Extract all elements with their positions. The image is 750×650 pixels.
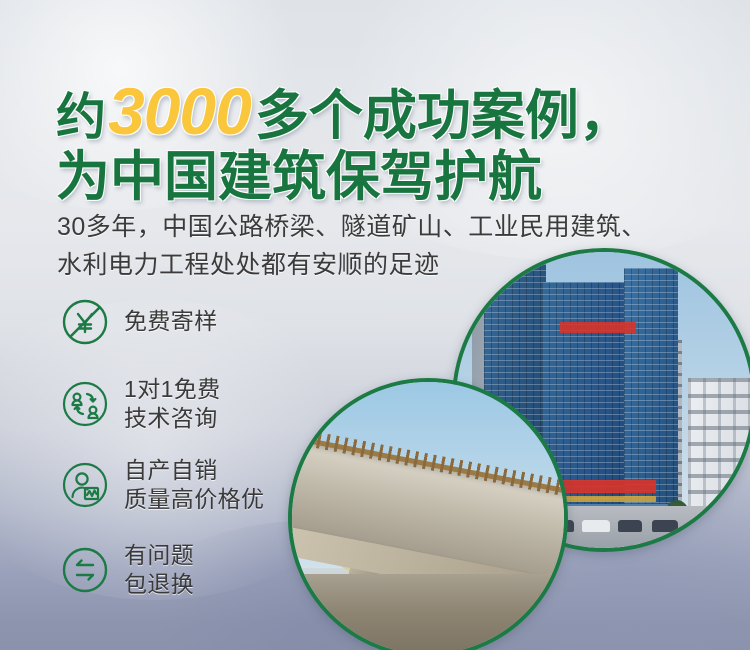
feature-label-line: 1对1免费 xyxy=(124,375,221,404)
feature-item-return[interactable]: 有问题 包退换 xyxy=(60,541,360,600)
free-sample-icon xyxy=(60,297,110,347)
feature-label: 免费寄样 xyxy=(124,307,218,336)
headline-line-2: 为中国建筑保驾护航 xyxy=(56,150,716,204)
feature-label: 1对1免费 技术咨询 xyxy=(124,375,221,434)
feature-item-free-sample[interactable]: 免费寄样 xyxy=(60,297,360,347)
feature-label-line: 包退换 xyxy=(124,570,194,599)
headline-prefix: 约 xyxy=(56,89,106,145)
headline-number: 3000 xyxy=(106,74,255,148)
feature-item-consulting[interactable]: 1对1免费 技术咨询 xyxy=(60,375,360,434)
rooftop-sign xyxy=(560,322,636,333)
headline-line-1: 约3000多个成功案例， xyxy=(56,78,716,144)
feature-label-line: 自产自销 xyxy=(124,456,264,485)
facade-sign-gold xyxy=(560,496,656,502)
feature-list: 免费寄样 1对1免费 技术咨询 xyxy=(60,297,360,620)
self-produced-quality-icon xyxy=(60,460,110,510)
parked-car xyxy=(582,520,610,532)
feature-label: 自产自销 质量高价格优 xyxy=(124,456,264,515)
feature-label-line: 有问题 xyxy=(124,541,194,570)
headline: 约3000多个成功案例， 为中国建筑保驾护航 xyxy=(56,78,716,204)
feature-item-quality[interactable]: 自产自销 质量高价格优 xyxy=(60,456,360,515)
feature-label-line: 免费寄样 xyxy=(124,307,218,336)
feature-label-line: 质量高价格优 xyxy=(124,485,264,514)
feature-label-line: 技术咨询 xyxy=(124,404,221,433)
return-exchange-icon xyxy=(60,545,110,595)
headline-suffix: 多个成功案例， xyxy=(255,86,633,146)
facade-sign xyxy=(560,480,656,493)
parked-car xyxy=(618,520,642,532)
parked-car xyxy=(652,520,678,532)
feature-label: 有问题 包退换 xyxy=(124,541,194,600)
one-to-one-consult-icon xyxy=(60,379,110,429)
subtitle-line-1: 30多年，中国公路桥梁、隧道矿山、工业民用建筑、 xyxy=(57,208,717,246)
promo-banner: 约3000多个成功案例， 为中国建筑保驾护航 30多年，中国公路桥梁、隧道矿山、… xyxy=(0,0,750,650)
